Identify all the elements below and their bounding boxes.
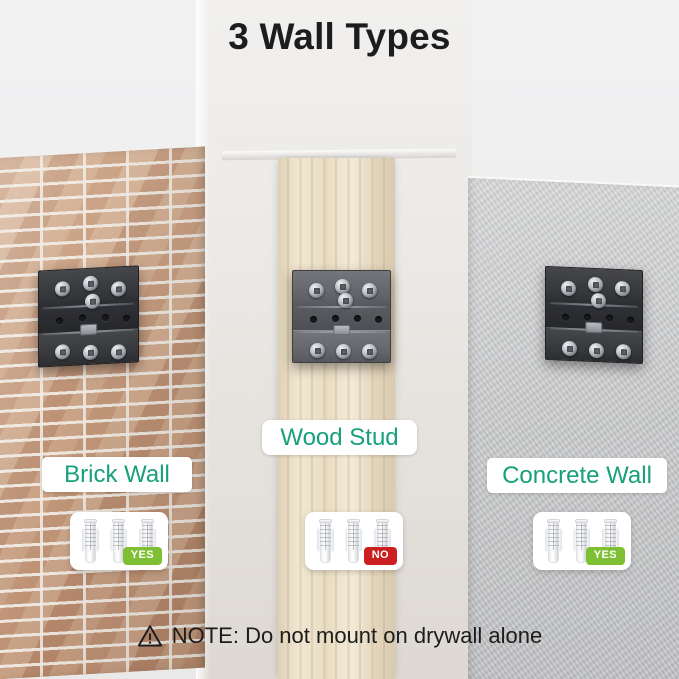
anchor-split xyxy=(90,523,91,550)
anchor-collar xyxy=(141,519,154,523)
bracket-bolt xyxy=(591,293,606,309)
anchor-split xyxy=(147,523,148,550)
bracket-bolt xyxy=(362,283,377,298)
bracket-hole xyxy=(627,316,634,323)
bracket-bolt xyxy=(309,283,324,298)
wall-anchor-icon xyxy=(82,519,99,563)
mounting-bracket-wood-stud xyxy=(292,270,391,363)
status-badge-brick: YES xyxy=(123,547,162,565)
brick-wall-surface xyxy=(0,147,205,679)
bracket-body xyxy=(545,266,643,364)
warning-triangle-icon xyxy=(137,624,163,648)
bracket-hole xyxy=(584,314,591,321)
infographic-canvas: 3 Wall Types xyxy=(0,0,679,679)
wall-anchor-icon xyxy=(345,519,362,563)
anchor-collar xyxy=(575,519,588,523)
mounting-bracket-concrete xyxy=(545,266,643,364)
anchor-collar xyxy=(319,519,332,523)
wall-label-concrete: Concrete Wall xyxy=(487,458,667,493)
bracket-bolt xyxy=(338,293,353,308)
bracket-latch xyxy=(333,325,351,335)
bracket-bolt xyxy=(335,279,350,294)
bracket-latch xyxy=(80,324,98,335)
anchor-collar xyxy=(604,519,617,523)
bracket-hole xyxy=(606,315,613,322)
brick-wall-shading xyxy=(0,147,205,679)
anchor-split xyxy=(581,523,582,550)
anchor-collar xyxy=(112,519,125,523)
bracket-body xyxy=(292,270,391,363)
anchor-card-brick: YES xyxy=(70,512,168,570)
anchor-split xyxy=(610,523,611,550)
bracket-bolt xyxy=(336,344,351,359)
bracket-bolt xyxy=(615,281,630,297)
anchor-split xyxy=(353,523,354,550)
mounting-bracket-brick xyxy=(38,265,139,367)
bracket-bolt xyxy=(588,277,603,293)
concrete-wall-surface xyxy=(468,178,679,679)
bracket-bolt xyxy=(362,344,377,359)
bracket-hole xyxy=(562,314,569,321)
bracket-hole xyxy=(310,316,317,323)
bracket-body xyxy=(38,265,139,367)
wall-label-wood-stud: Wood Stud xyxy=(262,420,417,455)
bracket-hole xyxy=(354,315,361,322)
anchor-card-wood-stud: NO xyxy=(305,512,403,570)
status-badge-wood-stud: NO xyxy=(364,547,397,565)
bracket-bolt xyxy=(616,344,631,360)
drywall-warning-note: NOTE: Do not mount on drywall alone xyxy=(0,623,679,649)
wall-anchor-icon xyxy=(317,519,334,563)
bracket-bolt xyxy=(310,343,325,358)
anchor-collar xyxy=(84,519,97,523)
bracket-bolt xyxy=(562,341,577,357)
wood-stud-surface xyxy=(278,158,395,679)
anchor-collar xyxy=(376,519,389,523)
bracket-latch xyxy=(585,322,602,333)
anchor-collar xyxy=(547,519,560,523)
wall-anchor-icon xyxy=(545,519,562,563)
anchor-split xyxy=(553,523,554,550)
bracket-hole xyxy=(332,315,339,322)
anchor-split xyxy=(382,523,383,550)
page-title: 3 Wall Types xyxy=(0,16,679,58)
anchor-split xyxy=(325,523,326,550)
bracket-bolt xyxy=(561,281,576,297)
bracket-hole xyxy=(375,316,382,323)
bracket-bolt xyxy=(589,343,604,359)
anchor-collar xyxy=(347,519,360,523)
note-text: NOTE: Do not mount on drywall alone xyxy=(172,623,543,649)
anchor-card-concrete: YES xyxy=(533,512,631,570)
wall-label-brick: Brick Wall xyxy=(42,457,192,492)
anchor-split xyxy=(118,523,119,550)
status-badge-concrete: YES xyxy=(586,547,625,565)
